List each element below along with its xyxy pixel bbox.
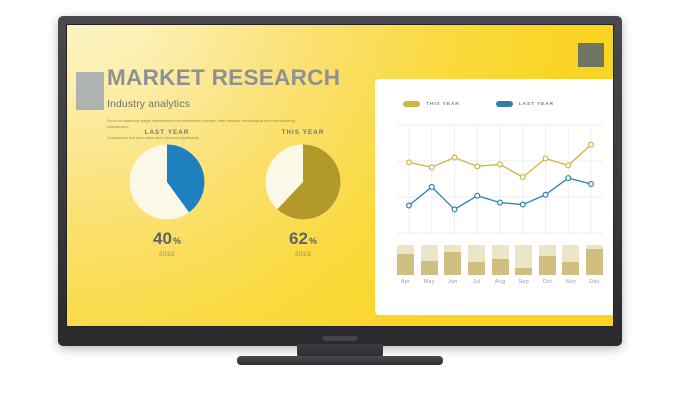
legend-swatch-icon — [496, 101, 513, 107]
legend-swatch-icon — [403, 101, 420, 107]
bar-fill — [539, 256, 556, 276]
bar-track — [397, 245, 414, 275]
screenshot-stage: Financial Statement MARKET RESEARCH Indu… — [0, 0, 680, 410]
accent-rectangle-left — [76, 72, 104, 110]
x-axis-tick-label: Aug — [492, 279, 509, 285]
pie-year: 2023 — [247, 251, 359, 258]
pie-chart-last-year — [128, 143, 206, 221]
monitor-stand-base — [237, 356, 443, 365]
bar-track — [492, 245, 509, 275]
page-title: MARKET RESEARCH — [107, 67, 363, 90]
chart-x-axis: AprMayJunJulAugSepOctNovDec — [397, 279, 603, 285]
pie-value: 40% — [111, 230, 223, 247]
pie-percent-symbol: % — [309, 236, 317, 246]
bar-chart-row — [397, 241, 603, 275]
bar-fill — [421, 261, 438, 275]
x-axis-tick-label: Jun — [444, 279, 461, 285]
bar-track — [515, 245, 532, 275]
presentation-slide: Financial Statement MARKET RESEARCH Indu… — [67, 25, 613, 326]
pie-block-last-year: LAST YEAR 40% 2022 — [111, 129, 223, 258]
x-axis-tick-label: Sep — [515, 279, 532, 285]
pie-value: 62% — [247, 230, 359, 247]
bar-track — [562, 245, 579, 275]
pie-value-number: 62 — [289, 229, 308, 248]
brand-mark-icon — [323, 336, 357, 341]
x-axis-tick-label: May — [421, 279, 438, 285]
bar-fill — [468, 262, 485, 276]
bar-track — [468, 245, 485, 275]
x-axis-tick-label: Jul — [468, 279, 485, 285]
pie-value-number: 40 — [153, 229, 172, 248]
bar-fill — [492, 259, 509, 276]
chart-legend: THIS YEAR LAST YEAR — [403, 101, 554, 107]
pie-svg — [128, 143, 206, 221]
monitor-screen: Financial Statement MARKET RESEARCH Indu… — [66, 24, 614, 327]
bar-fill — [562, 262, 579, 275]
x-axis-tick-label: Oct — [539, 279, 556, 285]
chart-card: THIS YEAR LAST YEAR AprMayJunJulAugSepOc… — [375, 79, 614, 315]
bar-fill — [586, 249, 603, 275]
page-subtitle: Industry analytics — [107, 98, 363, 110]
legend-item-last-year: LAST YEAR — [496, 101, 554, 107]
bar-fill — [397, 254, 414, 275]
bar-fill — [515, 268, 532, 276]
pie-block-this-year: THIS YEAR 62% 2023 — [247, 129, 359, 258]
bar-fill — [444, 252, 461, 275]
pie-percent-symbol: % — [173, 236, 181, 246]
pie-caption: LAST YEAR — [111, 129, 223, 136]
pie-caption: THIS YEAR — [247, 129, 359, 136]
bar-track — [421, 245, 438, 275]
bar-track — [444, 245, 461, 275]
line-chart-plot — [397, 119, 603, 239]
x-axis-tick-label: Dec — [586, 279, 603, 285]
accent-rectangle-right — [578, 43, 604, 67]
bar-track — [586, 245, 603, 275]
x-axis-tick-label: Apr — [397, 279, 414, 285]
bar-track — [539, 245, 556, 275]
pie-svg — [264, 143, 342, 221]
pie-chart-group: LAST YEAR 40% 2022 THIS — [111, 129, 359, 258]
body-paragraph-1: Focus on balancing margin improvement an… — [107, 118, 307, 130]
legend-label: THIS YEAR — [426, 102, 460, 107]
pie-chart-this-year — [264, 143, 342, 221]
legend-item-this-year: THIS YEAR — [403, 101, 460, 107]
pie-year: 2022 — [111, 251, 223, 258]
legend-label: LAST YEAR — [519, 102, 554, 107]
monitor-device: Financial Statement MARKET RESEARCH Indu… — [58, 16, 622, 346]
x-axis-tick-label: Nov — [562, 279, 579, 285]
